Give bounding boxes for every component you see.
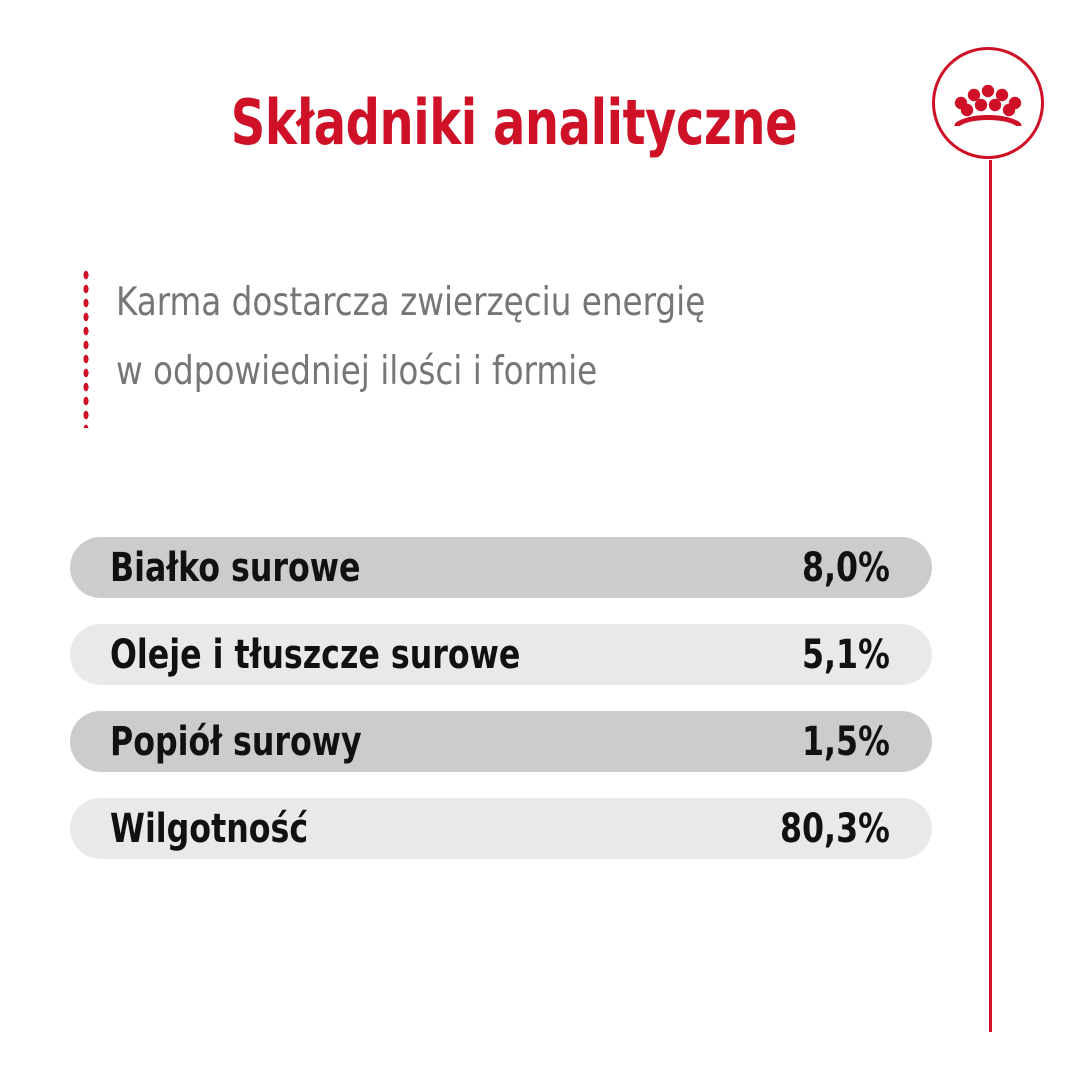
subtitle-line-2: w odpowiedniej ilości i formie [116,337,705,406]
logo-stem-line [989,160,992,1032]
row-value: 80,3% [780,809,890,849]
row-label: Białko surowe [110,548,361,588]
table-row: Wilgotność 80,3% [70,798,932,859]
table-row: Białko surowe 8,0% [70,537,932,598]
row-label: Wilgotność [110,809,308,849]
row-value: 8,0% [802,548,890,588]
table-row: Oleje i tłuszcze surowe 5,1% [70,624,932,685]
row-value: 1,5% [802,722,890,762]
row-value: 5,1% [802,635,890,675]
table-row: Popiół surowy 1,5% [70,711,932,772]
royal-canin-crown-icon [954,80,1022,126]
page-title: Składniki analityczne [72,87,956,159]
row-label: Oleje i tłuszcze surowe [110,635,520,675]
subtitle-line-1: Karma dostarcza zwierzęciu energię [116,268,705,337]
dotted-vertical-rule-icon [82,268,90,428]
subtitle-text: Karma dostarcza zwierzęciu energię w odp… [116,268,705,428]
subtitle-block: Karma dostarcza zwierzęciu energię w odp… [82,268,842,428]
analytical-constituents-table: Białko surowe 8,0% Oleje i tłuszcze suro… [70,537,932,859]
row-label: Popiół surowy [110,722,362,762]
